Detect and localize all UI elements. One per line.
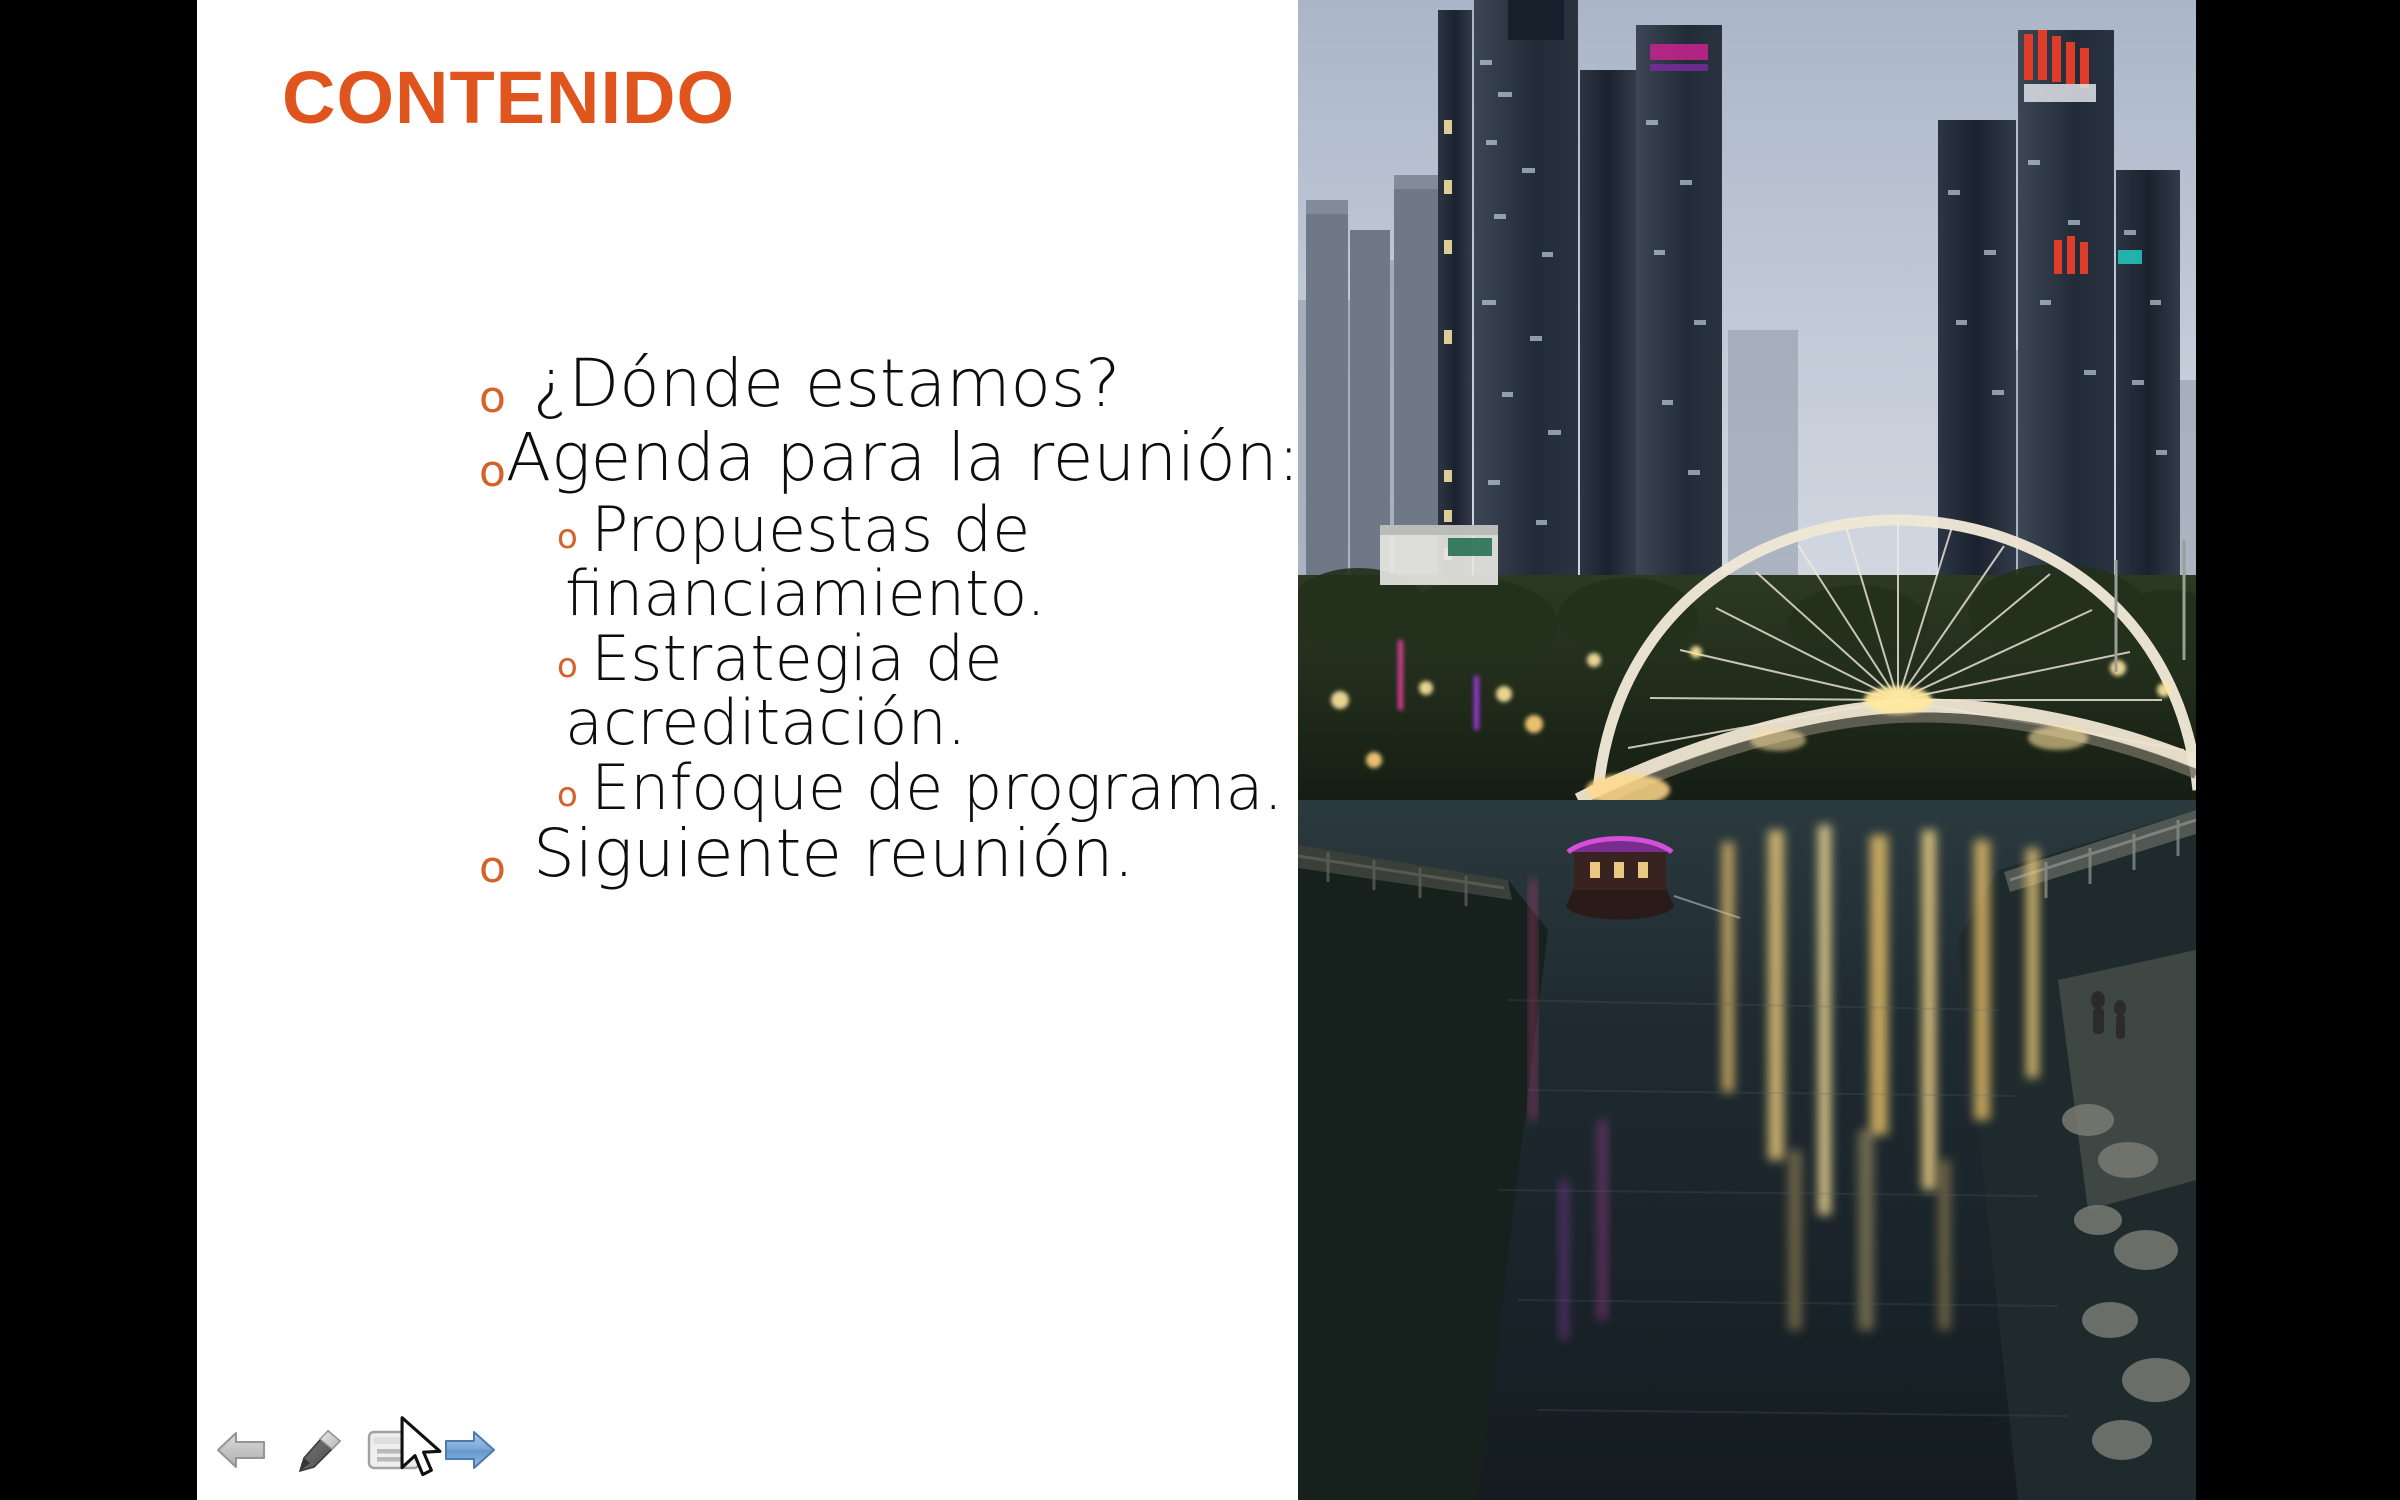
- list-item-label: Agenda para la reunión:: [506, 424, 1298, 493]
- presentation-nav-bar[interactable]: [205, 1418, 507, 1482]
- slideshow-stage: CONTENIDO o ¿Dónde estamos? o Agenda par…: [0, 0, 2400, 1500]
- list-item: o Enfoque de programa.: [557, 756, 1298, 820]
- list-item-continuation: financiamiento.: [565, 562, 1298, 626]
- list-item: o Estrategia de: [557, 627, 1298, 691]
- list-item: o Agenda para la reunión:: [479, 424, 1298, 494]
- list-item-label: Enfoque de programa.: [591, 756, 1283, 820]
- next-slide-button[interactable]: [439, 1422, 501, 1478]
- list-item-label: ¿Dónde estamos?: [533, 350, 1120, 419]
- slide-menu-button[interactable]: [363, 1422, 425, 1478]
- slide-panel: CONTENIDO o ¿Dónde estamos? o Agenda par…: [197, 0, 1298, 1500]
- list-item-label: Propuestas de: [591, 498, 1030, 562]
- list-item-label: financiamiento.: [565, 562, 1046, 626]
- bullet-marker-icon: o: [557, 778, 591, 812]
- bullet-marker-icon: o: [557, 649, 591, 683]
- list-item: o Siguiente reunión.: [479, 820, 1298, 890]
- list-item: o ¿Dónde estamos?: [479, 350, 1298, 420]
- previous-slide-button[interactable]: [211, 1422, 273, 1478]
- list-item-label: Siguiente reunión.: [533, 820, 1134, 889]
- list-item-label: acreditación.: [565, 691, 967, 755]
- left-arrow-icon: [214, 1426, 270, 1474]
- bullet-marker-icon: o: [557, 520, 591, 554]
- bullet-marker-icon: o: [479, 846, 533, 890]
- pen-tool-button[interactable]: [287, 1422, 349, 1478]
- page-title: CONTENIDO: [282, 55, 735, 140]
- right-arrow-icon: [440, 1426, 500, 1474]
- bullet-marker-icon: o: [479, 376, 533, 420]
- list-item-label: Estrategia de: [591, 627, 1002, 691]
- list-item-continuation: acreditación.: [565, 691, 1298, 755]
- slide-photo: [1298, 0, 2196, 1500]
- menu-icon: [365, 1427, 423, 1473]
- pen-icon: [290, 1425, 346, 1475]
- bullet-marker-icon: o: [479, 450, 506, 494]
- list-item: o Propuestas de: [557, 498, 1298, 562]
- bullet-list: o ¿Dónde estamos? o Agenda para la reuni…: [197, 350, 1298, 894]
- cityscape-illustration: [1298, 0, 2196, 1500]
